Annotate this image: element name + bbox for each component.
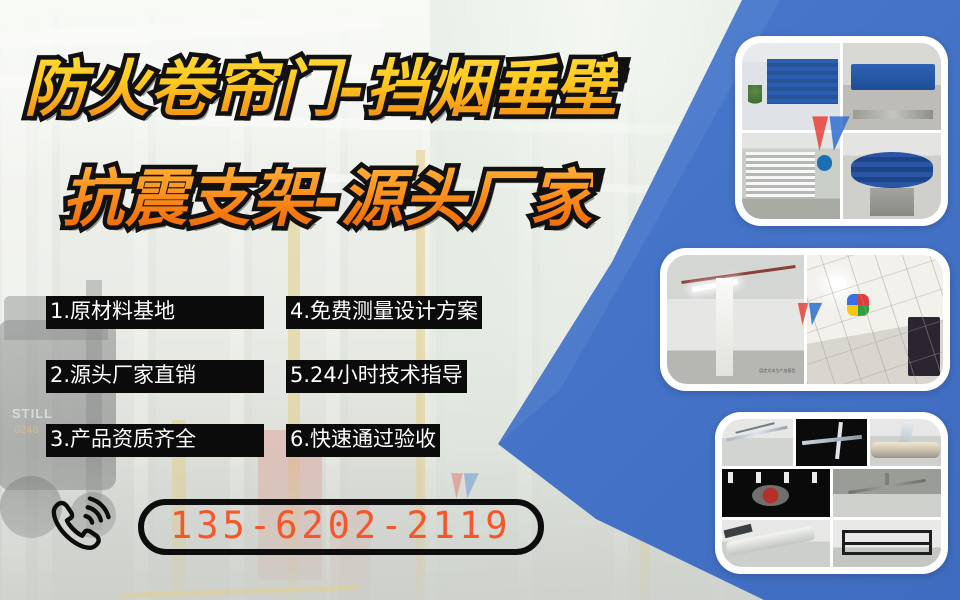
collage-grid: 固定式本生产加基型 [667,255,943,384]
phone-number-text: 135-6202-2119 [170,507,512,544]
photo-large-ceiling-fan [833,469,941,516]
phone-number-pill[interactable]: 135-6202-2119 [138,499,544,555]
feature-row: 1.原材料基地 4.免费测量设计方案 [46,296,546,329]
feature-item-4: 4.免费测量设计方案 [286,296,482,329]
feature-item-2: 2.源头厂家直销 [46,360,264,393]
headline-secondary: 抗震支架-源头厂家 抗震支架-源头厂家 [62,148,593,238]
headline-primary-text: 防火卷帘门-挡烟垂壁 [24,52,618,125]
photo-caption: 固定式本生产加基型 [759,368,795,374]
photo-ceiling-lights [807,255,944,384]
seismic-bracing-photo-collage[interactable] [715,412,948,574]
feature-item-5: 5.24小时技术指导 [286,360,467,393]
fire-shutter-photo-collage[interactable] [735,36,948,226]
photo-grey-rolling-shutter [742,133,840,220]
collage-grid [742,43,941,219]
feature-list: 1.原材料基地 4.免费测量设计方案 2.源头厂家直销 5.24小时技术指导 3… [46,296,546,488]
photo-parking-garage: 固定式本生产加基型 [667,255,804,384]
photo-roll-forming-machine [843,43,941,130]
ceiling-dark-panel [908,317,941,376]
photo-seismic-brace-clamp [796,419,867,466]
photo-ceiling-pipe-bracing [722,419,793,466]
headline-secondary-text: 抗震支架-源头厂家 [62,162,593,235]
ceiling-main-light [828,276,847,295]
photo-red-fan-bracing [722,469,830,516]
contact-phone-block[interactable]: 135-6202-2119 [44,492,544,562]
photo-duct-bracing [722,520,830,567]
project-site-photo-pair[interactable]: 固定式本生产加基型 [660,248,950,391]
feature-item-1: 1.原材料基地 [46,296,264,329]
photo-steel-frame-bracing [833,520,941,567]
feature-item-6: 6.快速通过验收 [286,424,440,457]
photo-shutter-roll-drum [843,133,941,220]
promotional-banner: STILL 0248 防火卷帘门-挡烟垂壁 防火卷帘门-挡烟垂壁 抗震支架-源头… [0,0,960,600]
headline-primary: 防火卷帘门-挡烟垂壁 防火卷帘门-挡烟垂壁 [24,38,618,128]
feature-item-3: 3.产品资质齐全 [46,424,264,457]
feature-row: 2.源头厂家直销 5.24小时技术指导 [46,360,546,393]
feature-row: 3.产品资质齐全 6.快速通过验收 [46,424,546,457]
photo-pipe-hanger-clamp [870,419,941,466]
ceiling-pinwheel-decor [847,294,869,316]
photo-blue-fire-shutter [742,43,840,130]
phone-call-icon [44,492,114,562]
collage-grid [722,419,941,567]
